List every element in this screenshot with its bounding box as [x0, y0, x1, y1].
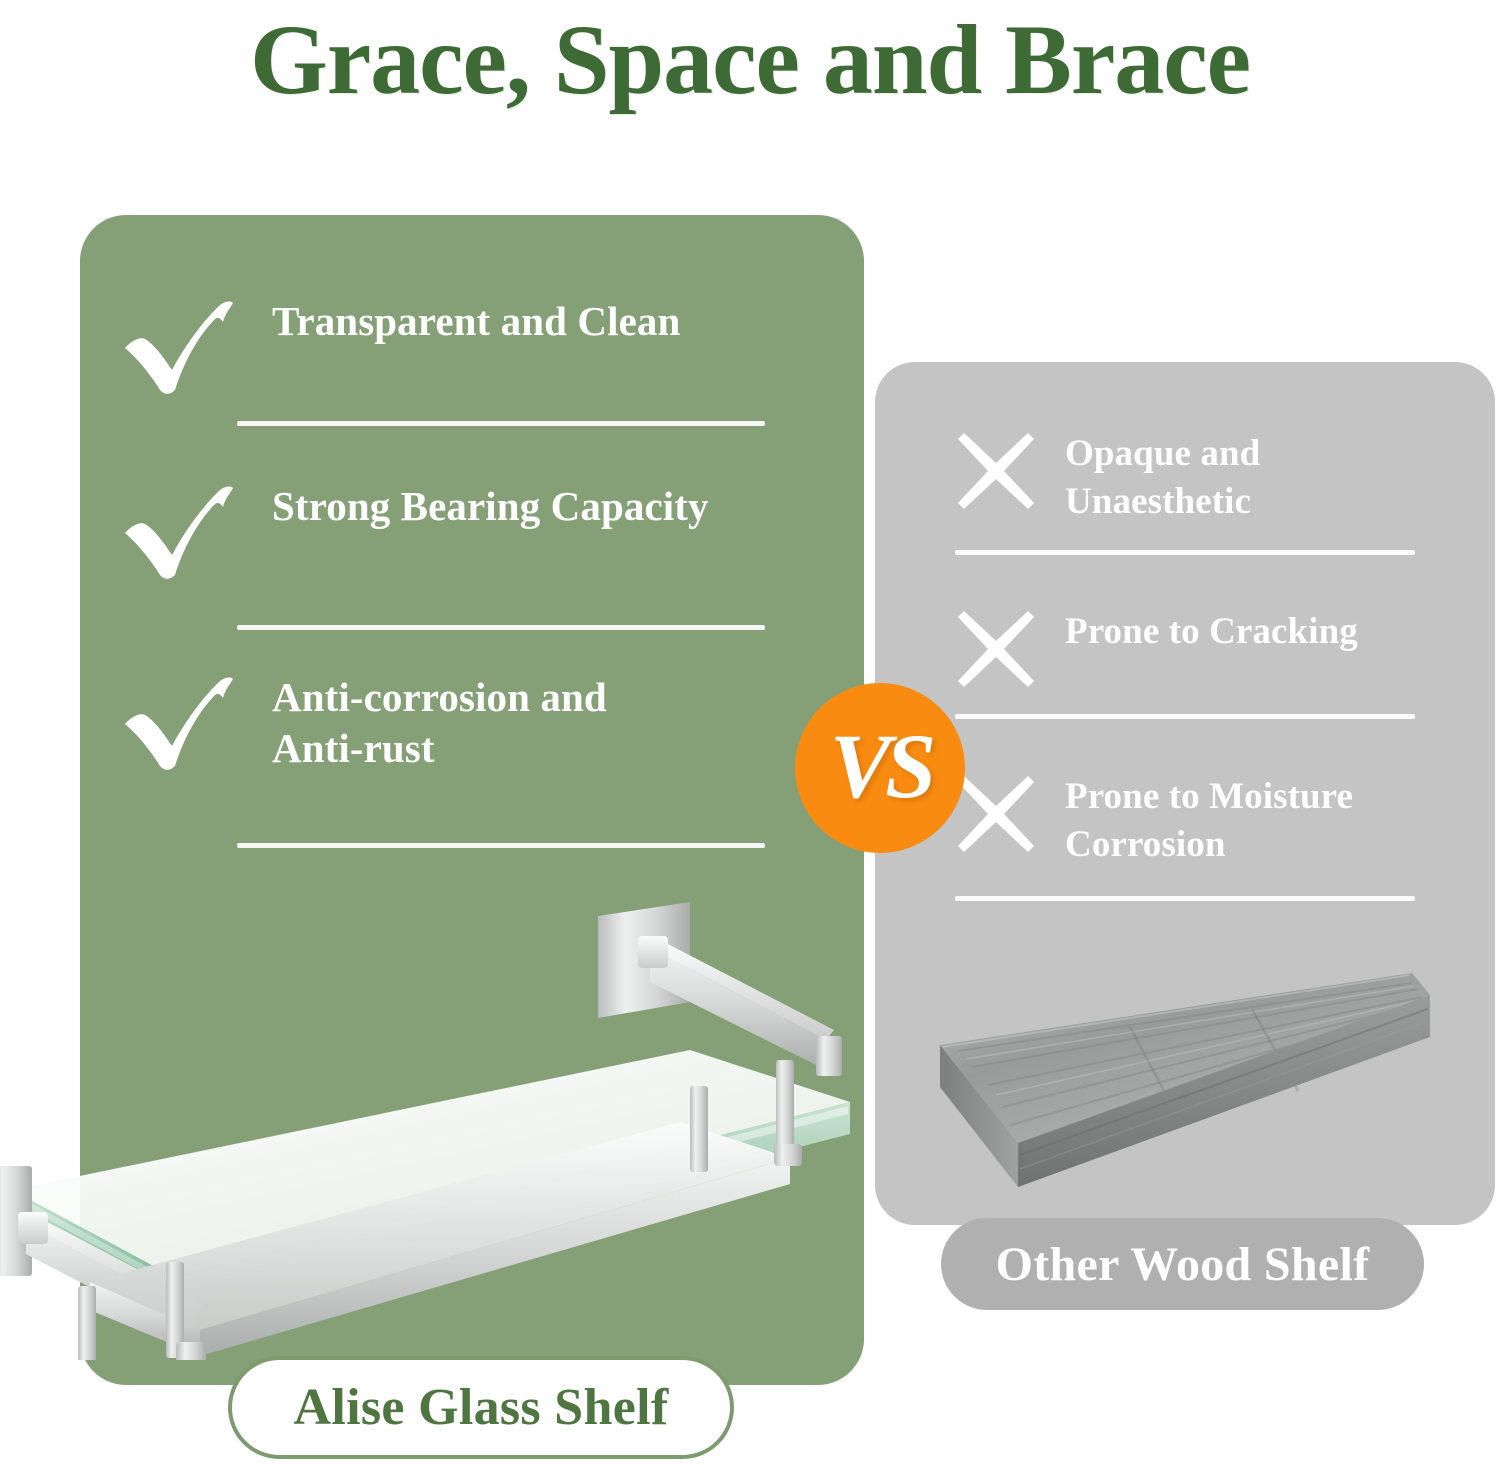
bad-feature-label: Prone to Moisture Corrosion [1065, 773, 1353, 869]
good-feature-row-2: Strong Bearing Capacity [120, 481, 709, 581]
check-icon [120, 672, 238, 772]
x-icon [955, 608, 1037, 690]
bad-divider-1 [955, 550, 1415, 555]
good-feature-label: Strong Bearing Capacity [272, 481, 709, 532]
bad-divider-2 [955, 714, 1415, 719]
glass-shelf-image [0, 890, 870, 1360]
bad-divider-3 [955, 896, 1415, 901]
bad-feature-label: Prone to Cracking [1065, 608, 1358, 656]
bad-product-label: Other Wood Shelf [996, 1237, 1370, 1292]
vs-label: VS [830, 720, 931, 812]
bad-feature-row-2: Prone to Cracking [955, 608, 1358, 690]
vs-badge: VS [795, 683, 965, 853]
check-icon [120, 296, 238, 396]
good-divider-1 [237, 421, 765, 426]
comparison-infographic: Grace, Space and Brace Transparent and C… [0, 0, 1500, 1465]
good-product-label: Alise Glass Shelf [294, 1378, 669, 1437]
page-title: Grace, Space and Brace [0, 4, 1500, 116]
good-feature-label: Anti-corrosion and Anti-rust [272, 672, 607, 774]
good-divider-2 [237, 625, 765, 630]
check-icon [120, 481, 238, 581]
good-divider-3 [237, 843, 765, 848]
good-feature-label: Transparent and Clean [272, 296, 680, 347]
good-product-pill: Alise Glass Shelf [228, 1356, 734, 1459]
x-icon [955, 430, 1037, 512]
bad-feature-row-1: Opaque and Unaesthetic [955, 430, 1260, 526]
bad-feature-row-3: Prone to Moisture Corrosion [955, 773, 1353, 869]
good-feature-row-1: Transparent and Clean [120, 296, 680, 396]
x-icon [955, 773, 1037, 855]
bad-feature-label: Opaque and Unaesthetic [1065, 430, 1260, 526]
good-feature-row-3: Anti-corrosion and Anti-rust [120, 672, 607, 774]
bad-product-pill: Other Wood Shelf [941, 1218, 1424, 1310]
wood-shelf-image [900, 955, 1460, 1205]
